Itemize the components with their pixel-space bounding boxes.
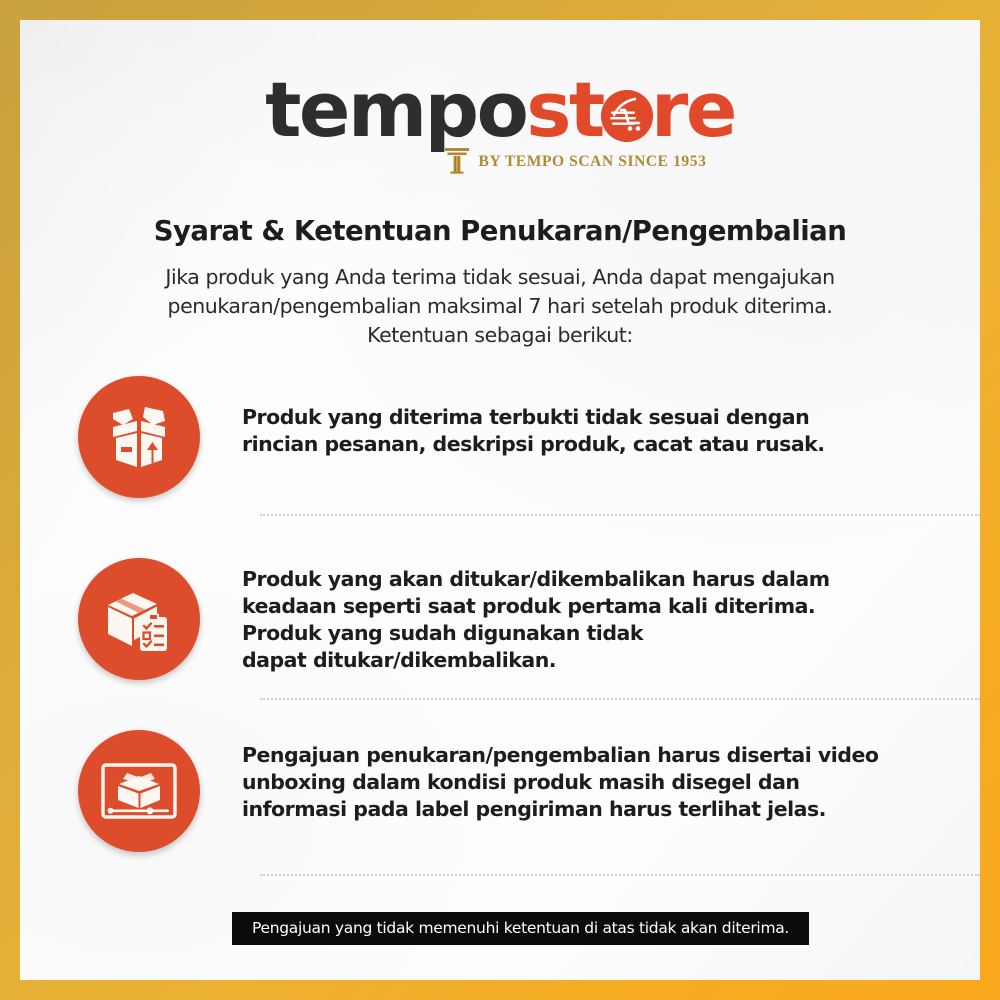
separator-3 [260,874,980,876]
term-2-line-1: Produk yang akan ditukar/dikembalikan ha… [242,566,960,593]
gold-border-frame: tempost re [0,0,1000,1000]
intro-paragraph: Jika produk yang Anda terima tidak sesua… [20,263,980,350]
sealed-box-checklist-icon [78,558,200,680]
term-item-2: Produk yang akan ditukar/dikembalikan ha… [20,558,980,680]
page-title: Syarat & Ketentuan Penukaran/Pengembalia… [20,215,980,247]
term-2-line-2: keadaan seperti saat produk pertama kali… [242,593,960,620]
intro-line-1: Jika produk yang Anda terima tidak sesua… [108,263,892,292]
intro-line-3: Ketentuan sebagai berikut: [108,321,892,350]
term-3-line-2: unboxing dalam kondisi produk masih dise… [242,769,960,796]
footer-notice-wrap: Pengajuan yang tidak memenuhi ketentuan … [20,912,980,945]
term-text-3: Pengajuan penukaran/pengembalian harus d… [200,730,960,823]
term-item-3: Pengajuan penukaran/pengembalian harus d… [20,730,980,852]
unboxing-video-icon [78,730,200,852]
tagline-text: BY TEMPO SCAN SINCE 1953 [479,153,707,171]
logo-text-st: st [526,72,603,148]
intro-line-2: penukaran/pengembalian maksimal 7 hari s… [108,292,892,321]
separator-1 [260,514,980,516]
logo-text-o: o [477,72,527,148]
info-card: tempost re [20,20,980,980]
damaged-open-box-icon [78,376,200,498]
logo-text-re: re [651,72,735,148]
term-text-2: Produk yang akan ditukar/dikembalikan ha… [200,558,960,674]
term-1-line-1: Produk yang diterima terbukti tidak sesu… [242,404,960,431]
term-text-1: Produk yang diterima terbukti tidak sesu… [200,376,960,458]
shopping-cart-globe-icon [601,90,653,142]
term-item-1: Produk yang diterima terbukti tidak sesu… [20,376,980,498]
footer-notice-banner: Pengajuan yang tidak memenuhi ketentuan … [232,912,809,945]
separator-2 [260,698,980,700]
logo-wordmark: tempost re [265,72,735,148]
term-2-line-4: dapat ditukar/dikembalikan. [242,647,960,674]
terms-list: Produk yang diterima terbukti tidak sesu… [20,376,980,876]
term-1-line-2: rincian pesanan, deskripsi produk, cacat… [242,431,960,458]
logo-text-tempo: temp [265,72,476,148]
term-3-line-1: Pengajuan penukaran/pengembalian harus d… [242,742,960,769]
term-2-line-3: Produk yang sudah digunakan tidak [242,620,960,647]
term-3-line-3: informasi pada label pengiriman harus te… [242,796,960,823]
brand-logo: tempost re [20,20,980,179]
